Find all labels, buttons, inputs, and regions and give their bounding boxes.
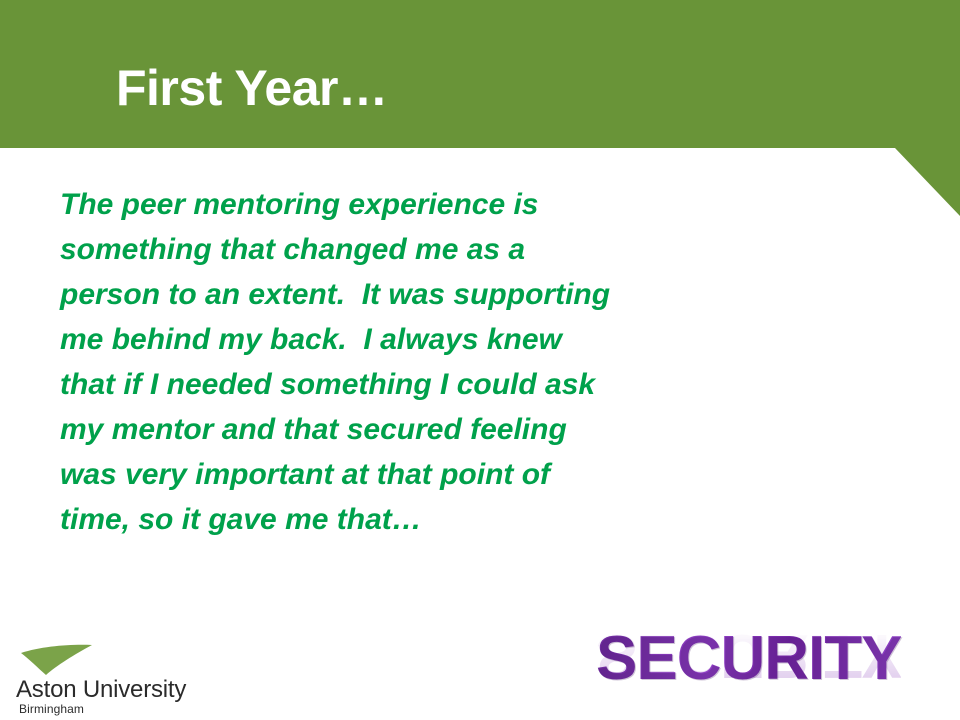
- quote-line: that if I needed something I could ask: [60, 362, 890, 407]
- quote-line: time, so it gave me that…: [60, 497, 890, 542]
- page-title: First Year…: [116, 62, 388, 115]
- wordart-security: SECURITY SECURITY: [596, 628, 916, 720]
- quote-line: person to an extent. It was supporting: [60, 272, 890, 317]
- aston-triangle-icon: [20, 644, 94, 676]
- quote-line: was very important at that point of: [60, 452, 890, 497]
- quote-line: The peer mentoring experience is: [60, 182, 890, 227]
- quote-line: my mentor and that secured feeling: [60, 407, 890, 452]
- wordart-text: SECURITY: [596, 628, 901, 690]
- aston-university-logo: Aston University Birmingham: [16, 644, 206, 708]
- logo-name: Aston University: [16, 676, 186, 704]
- header-wedge-triangle: [880, 148, 960, 218]
- quote-line: me behind my back. I always knew: [60, 317, 890, 362]
- quote-line: something that changed me as a: [60, 227, 890, 272]
- quote-block: The peer mentoring experience is somethi…: [60, 182, 890, 542]
- slide: First Year… The peer mentoring experienc…: [0, 0, 960, 720]
- logo-city: Birmingham: [19, 702, 84, 716]
